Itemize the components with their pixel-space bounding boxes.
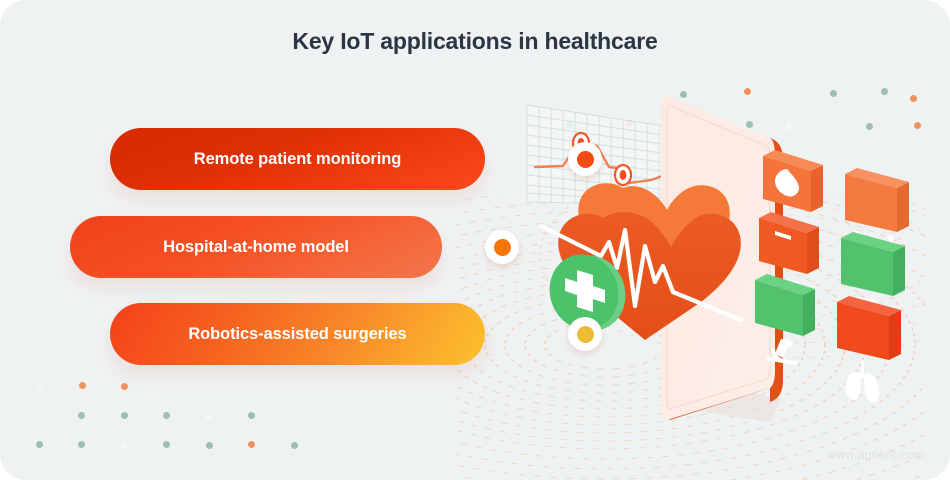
tile-lungs-icon[interactable] — [837, 296, 901, 404]
decor-dot — [206, 442, 213, 449]
decor-dot — [36, 441, 43, 448]
decor-dot — [248, 412, 255, 419]
decor-dot — [205, 413, 212, 420]
application-item-label: Robotics-assisted surgeries — [110, 303, 485, 365]
page-title: Key IoT applications in healthcare — [0, 28, 950, 55]
decor-dot — [248, 441, 255, 448]
infographic-canvas: Key IoT applications in healthcare Remot… — [0, 0, 950, 480]
decor-dot — [121, 412, 128, 419]
decor-dot — [163, 441, 170, 448]
decor-dot — [121, 383, 128, 390]
step-marker-robotics-assisted-surgeries[interactable] — [568, 317, 602, 351]
iot-healthcare-isometric-illustration — [505, 70, 935, 450]
decor-dot — [36, 383, 43, 390]
ecg-marker — [615, 165, 631, 185]
decor-dot — [121, 442, 128, 449]
step-marker-remote-patient-monitoring[interactable] — [568, 142, 602, 176]
decor-dot — [78, 412, 85, 419]
decor-dot — [79, 382, 86, 389]
decor-dot — [163, 412, 170, 419]
application-item-label: Hospital-at-home model — [70, 216, 442, 278]
application-item-remote-patient-monitoring[interactable]: Remote patient monitoring — [110, 128, 485, 190]
watermark: www.apriorit.com — [827, 448, 924, 462]
application-item-label: Remote patient monitoring — [110, 128, 485, 190]
decor-dot — [78, 441, 85, 448]
application-item-hospital-at-home-model[interactable]: Hospital-at-home model — [70, 216, 442, 278]
decor-dot — [291, 442, 298, 449]
step-marker-hospital-at-home-model[interactable] — [485, 230, 519, 264]
application-item-robotics-assisted-surgeries[interactable]: Robotics-assisted surgeries — [110, 303, 485, 365]
